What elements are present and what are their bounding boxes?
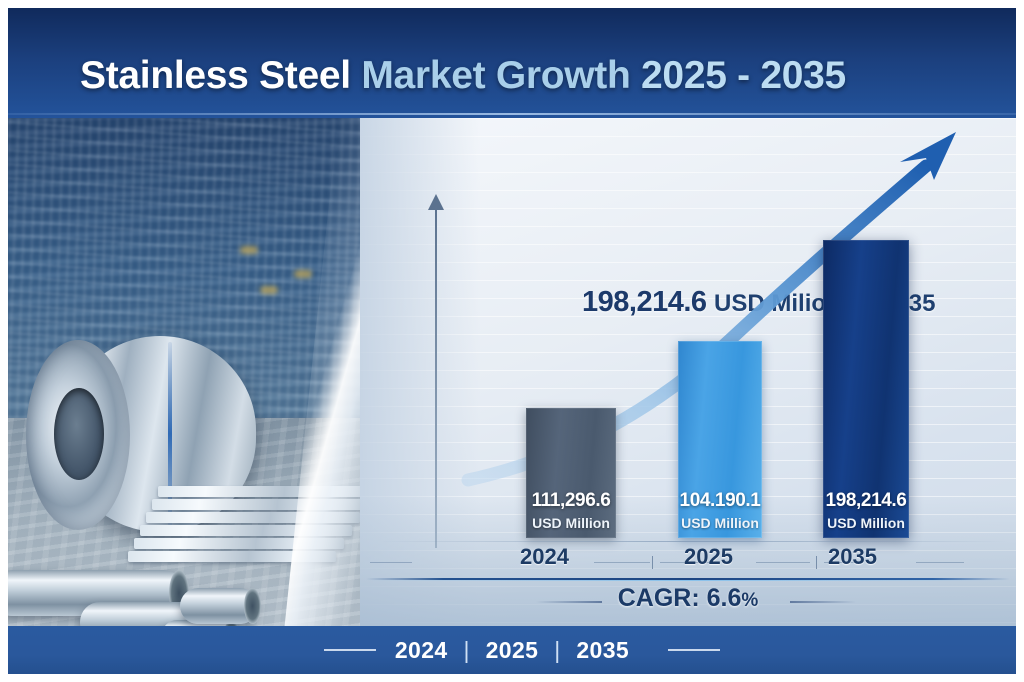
- footer-year-2024: 2024: [395, 637, 448, 663]
- x-label-2024: 2024: [520, 544, 569, 570]
- y-axis-line: [435, 204, 437, 548]
- cagr-annotation: CAGR: 6.6%: [360, 584, 1016, 618]
- x-axis-labels: 2024 2025 2035: [360, 544, 1016, 574]
- bar-unit-2035: USD Million: [823, 515, 909, 531]
- infographic-poster: Stainless Steel Market Growth 2025 - 203…: [0, 0, 1024, 682]
- footer-year-2035: 2035: [576, 637, 629, 663]
- bar-2035[interactable]: 198,214.6 USD Million: [823, 240, 909, 538]
- poster-frame: Stainless Steel Market Growth 2025 - 203…: [8, 8, 1016, 674]
- bar-value-2025: 104.190.1: [678, 490, 762, 512]
- bar-value-2035: 198,214.6: [823, 490, 909, 512]
- footer-year-2025: 2025: [486, 637, 539, 663]
- title-part-3: 2025 - 2035: [641, 54, 846, 97]
- bar-2024[interactable]: 111,296.6 USD Million: [526, 408, 616, 538]
- footer-separator-1: |: [454, 637, 478, 663]
- x-axis-line: [378, 541, 1008, 542]
- footer-band: 2024 | 2025 | 2035: [8, 626, 1016, 674]
- axis-base-rule: [366, 578, 1010, 580]
- bar-unit-2025: USD Million: [678, 515, 762, 531]
- headline-value: 198,214.6: [582, 286, 707, 318]
- title-part-1: Stainless Steel: [80, 54, 351, 97]
- x-label-2035: 2035: [828, 544, 877, 570]
- cagr-percent-sign: %: [741, 590, 758, 611]
- steel-pipes-image: [8, 558, 264, 626]
- bar-value-2024: 111,296.6: [526, 490, 616, 512]
- page-title: Stainless Steel Market Growth 2025 - 203…: [80, 54, 846, 98]
- x-label-2025: 2025: [684, 544, 733, 570]
- footer-years: 2024 | 2025 | 2035: [8, 637, 1016, 664]
- bar-unit-2024: USD Million: [526, 515, 616, 531]
- cagr-value: CAGR: 6.6: [618, 584, 742, 612]
- cagr-text: CAGR: 6.6%: [360, 584, 1016, 613]
- bar-2025[interactable]: 104.190.1 USD Million: [678, 341, 762, 538]
- chart-panel: 198,214.6 USD Milion by 2035: [360, 118, 1016, 626]
- header-band: Stainless Steel Market Growth 2025 - 203…: [8, 8, 1016, 118]
- title-part-2: Market Growth: [361, 54, 630, 97]
- footer-separator-2: |: [545, 637, 569, 663]
